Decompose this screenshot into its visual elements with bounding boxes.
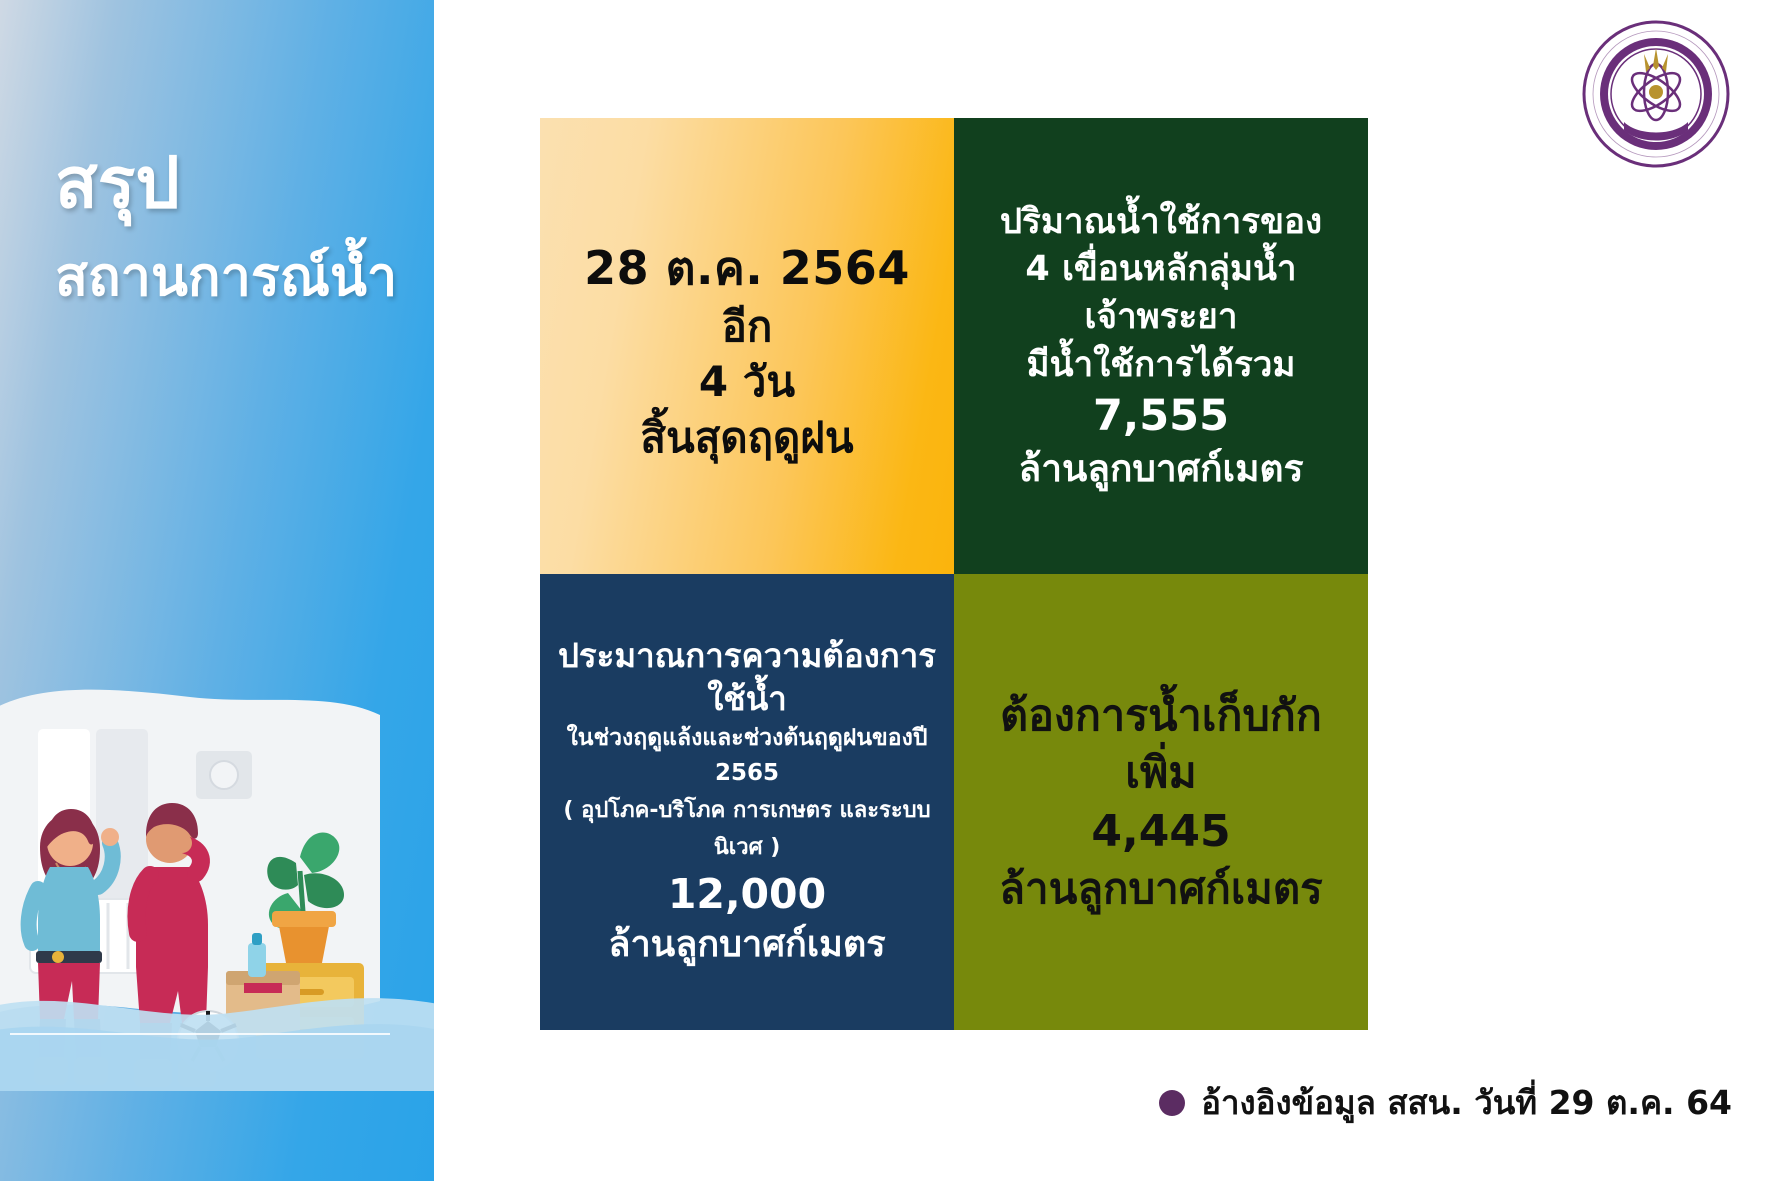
illustration-baseline	[10, 1033, 390, 1035]
page-title-line-1: สรุป	[55, 148, 397, 218]
quadrant-usable-water: ปริมาณน้ำใช้การของ 4 เขื่อนหลักลุ่มน้ำเจ…	[954, 118, 1368, 574]
usable-water-line-1: ปริมาณน้ำใช้การของ	[1000, 199, 1322, 247]
water-demand-line-3: ( อุปโภค-บริโภค การเกษตร และระบบนิเวศ )	[554, 792, 940, 867]
countdown-rainy-season-end: สิ้นสุดฤดูฝน	[584, 410, 910, 465]
left-blue-panel: สรุป สถานการณ์น้ำ	[0, 0, 434, 1181]
quadrant-water-demand: ประมาณการความต้องการใช้น้ำ ในช่วงฤดูแล้ง…	[540, 574, 954, 1030]
storage-needed-line-1: ต้องการน้ำเก็บกักเพิ่ม	[968, 688, 1354, 803]
countdown-more-label: อีก	[584, 299, 910, 354]
quadrant-date-countdown: 28 ต.ค. 2564 อีก 4 วัน สิ้นสุดฤดูฝน	[540, 118, 954, 574]
usable-water-line-2: 4 เขื่อนหลักลุ่มน้ำเจ้าพระยา	[968, 246, 1354, 341]
usable-water-value: 7,555	[1093, 389, 1229, 445]
water-demand-line-1: ประมาณการความต้องการใช้น้ำ	[554, 635, 940, 721]
usable-water-unit: ล้านลูกบาศก์เมตร	[1019, 445, 1304, 493]
stat-quadrant-grid: 28 ต.ค. 2564 อีก 4 วัน สิ้นสุดฤดูฝน ปริม…	[540, 118, 1368, 1030]
bullet-dot-icon	[1159, 1090, 1185, 1116]
ministry-logo-icon	[1580, 18, 1732, 170]
source-reference: อ้างอิงข้อมูล สสน. วันที่ 29 ต.ค. 64	[1159, 1076, 1732, 1129]
quadrant-storage-needed: ต้องการน้ำเก็บกักเพิ่ม 4,445 ล้านลูกบาศก…	[954, 574, 1368, 1030]
water-demand-line-2: ในช่วงฤดูแล้งและช่วงต้นฤดูฝนของปี 2565	[554, 721, 940, 792]
countdown-date: 28 ต.ค. 2564	[584, 239, 910, 299]
source-reference-text: อ้างอิงข้อมูล สสน. วันที่ 29 ต.ค. 64	[1201, 1076, 1732, 1129]
usable-water-line-3: มีน้ำใช้การได้รวม	[1027, 342, 1296, 390]
storage-needed-value: 4,445	[1091, 803, 1230, 861]
storage-needed-unit: ล้านลูกบาศก์เมตร	[999, 861, 1322, 916]
water-demand-value: 12,000	[668, 867, 826, 922]
page-title-line-2: สถานการณ์น้ำ	[55, 250, 397, 304]
countdown-days: 4 วัน	[584, 354, 910, 409]
water-demand-unit: ล้านลูกบาศก์เมตร	[608, 922, 885, 969]
page-title: สรุป สถานการณ์น้ำ	[55, 148, 397, 304]
flood-illustration	[0, 671, 434, 1091]
